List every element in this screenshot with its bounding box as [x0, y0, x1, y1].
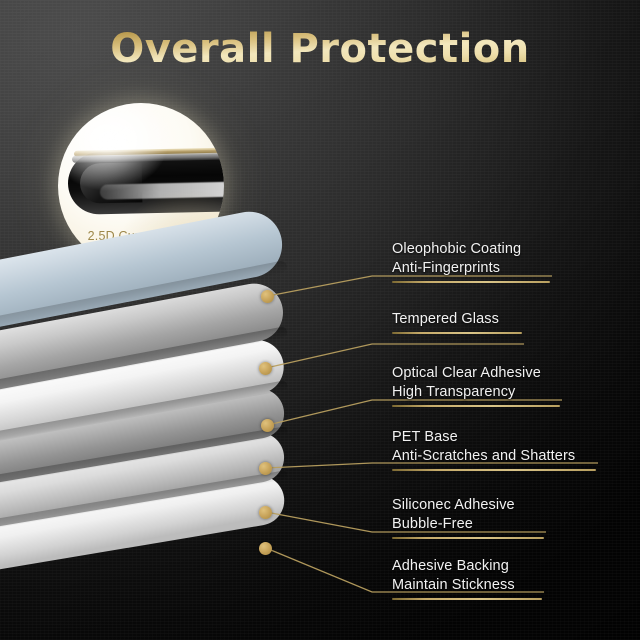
connector-dot-4: [259, 462, 272, 475]
callout-line-2: Bubble-Free: [392, 515, 544, 534]
callout-line-2: High Transparency: [392, 383, 560, 402]
callout-tempered-glass: Tempered Glass: [392, 310, 522, 334]
callout-underline: [392, 281, 550, 283]
page-title: Overall Protection: [0, 26, 640, 72]
phone-edge-highlight-shape: [100, 181, 224, 199]
background-noise-texture: [0, 0, 640, 640]
callout-underline: [392, 598, 542, 600]
connector-dot-5: [259, 506, 272, 519]
connector-dot-2: [259, 362, 272, 375]
callout-line-1: Tempered Glass: [392, 310, 522, 329]
callout-line-2: Maintain Stickness: [392, 576, 542, 595]
callout-line-1: Oleophobic Coating: [392, 240, 550, 259]
callout-pet-base: PET Base Anti-Scratches and Shatters: [392, 428, 596, 471]
callout-underline: [392, 332, 522, 334]
connector-dot-1: [261, 290, 274, 303]
inset-caption: 2.5D Curved-Edge: [58, 229, 224, 243]
callout-optical-clear-adhesive: Optical Clear Adhesive High Transparency: [392, 364, 560, 407]
callout-adhesive-backing: Adhesive Backing Maintain Stickness: [392, 557, 542, 600]
callout-line-1: PET Base: [392, 428, 596, 447]
connector-dot-3: [261, 419, 274, 432]
callout-underline: [392, 469, 596, 471]
callout-line-2: Anti-Fingerprints: [392, 259, 550, 278]
connector-dot-6: [259, 542, 272, 555]
callout-line-1: Adhesive Backing: [392, 557, 542, 576]
callout-line-1: Siliconec Adhesive: [392, 496, 544, 515]
callout-underline: [392, 405, 560, 407]
product-infographic: Overall Protection 2.5D Curved-Edge: [0, 0, 640, 640]
callout-silicone-adhesive: Siliconec Adhesive Bubble-Free: [392, 496, 544, 539]
curved-edge-inset: 2.5D Curved-Edge: [58, 103, 224, 269]
callout-line-2: Anti-Scratches and Shatters: [392, 447, 596, 466]
callout-underline: [392, 537, 544, 539]
callout-line-1: Optical Clear Adhesive: [392, 364, 560, 383]
callout-oleophobic-coating: Oleophobic Coating Anti-Fingerprints: [392, 240, 550, 283]
